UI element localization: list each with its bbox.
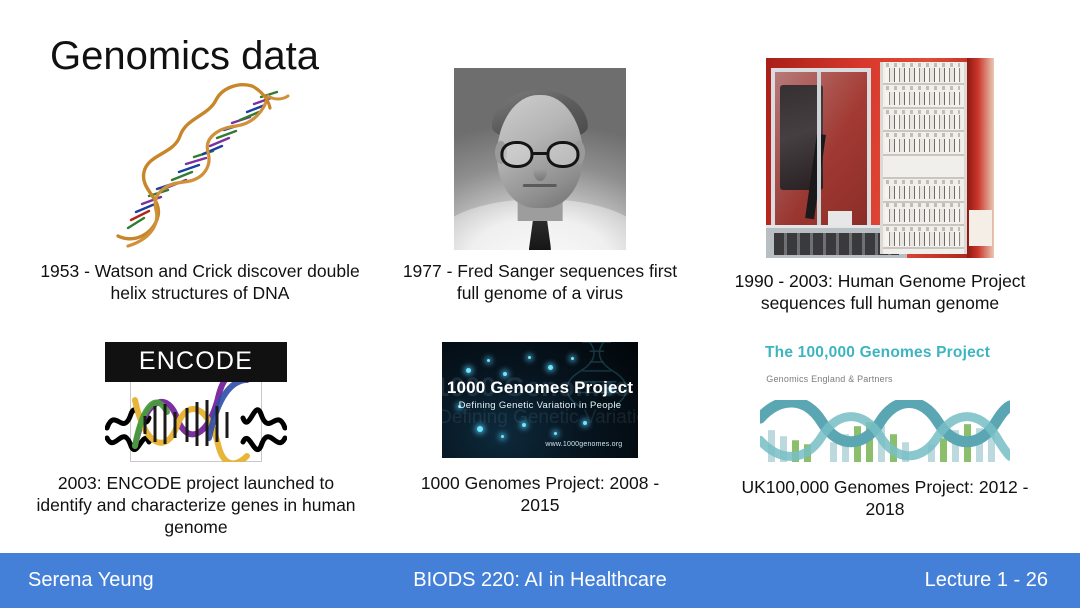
binder-row [885, 68, 961, 81]
glow-dot [487, 359, 490, 362]
binder-row [885, 92, 961, 105]
shelf-label-strip [886, 227, 960, 231]
1000-genomes-project-banner: 1000 Genomes Project Defining Genetic Va… [442, 342, 638, 458]
portrait-nose [533, 159, 547, 181]
eyeglass-bridge [533, 152, 547, 155]
encode-wordmark: ENCODE [139, 349, 253, 374]
lab-photo [766, 58, 994, 258]
portrait-mouth [523, 184, 557, 187]
caption-text: 1953 - Watson and Crick discover double … [40, 260, 360, 304]
binder-row [885, 186, 961, 199]
shelf-row [883, 203, 964, 226]
human-genome-project-lab-photo [766, 58, 994, 258]
content-item-human-genome-project: 1990 - 2003: Human Genome Project sequen… [720, 58, 1040, 314]
shelf-label-strip [886, 110, 960, 114]
dna-helix-icon [100, 68, 300, 248]
glow-dot [501, 435, 504, 438]
genomes-banner-graphic: 1000 Genomes Project Defining Genetic Va… [442, 342, 638, 458]
content-item-dna-double-helix: 1953 - Watson and Crick discover double … [40, 68, 360, 304]
shelf-row [883, 132, 964, 155]
footer-course-title: BIODS 220: AI in Healthcare [0, 569, 1080, 592]
fred-sanger-portrait-photo [454, 68, 626, 250]
content-item-encode: ENCODE 2003: ENCODE project launched to … [28, 342, 364, 538]
glass-enclosure [771, 68, 871, 240]
content-item-1000-genomes: 1000 Genomes Project Defining Genetic Va… [400, 342, 680, 516]
banner-subtitle: Defining Genetic Variation in People [442, 400, 638, 411]
encode-project-logo: ENCODE [105, 342, 287, 462]
binder-row [885, 209, 961, 222]
caption-text: 2003: ENCODE project launched to identif… [28, 472, 364, 538]
content-item-uk-100k-genomes: The 100,000 Genomes Project Genomics Eng… [730, 342, 1040, 520]
lab-paper-stack [969, 210, 992, 246]
slide-canvas: Genomics data [0, 0, 1080, 608]
binder-row [885, 139, 961, 152]
shelf-label-strip [886, 133, 960, 137]
glow-dot [528, 356, 531, 359]
shelf-label-strip [886, 63, 960, 67]
banner-url: www.1000genomes.org [545, 441, 622, 448]
shelf-row [883, 226, 964, 249]
caption-text: 1977 - Fred Sanger sequences first full … [400, 260, 680, 304]
eyeglass-lens-left [500, 141, 533, 168]
uk-100000-genomes-project-logo: The 100,000 Genomes Project Genomics Eng… [760, 342, 1010, 462]
glow-dot [571, 357, 574, 360]
caption-text: 1000 Genomes Project: 2008 - 2015 [400, 472, 680, 516]
shelf-row [883, 62, 964, 85]
binder-shelving-unit [880, 62, 967, 254]
caption-text: 1990 - 2003: Human Genome Project sequen… [720, 270, 1040, 314]
glass-divider [817, 72, 821, 236]
slide-footer-bar: Serena Yeung BIODS 220: AI in Healthcare… [0, 553, 1080, 608]
glow-dot [554, 432, 557, 435]
eyeglass-lens-right [546, 141, 579, 168]
shelf-row [883, 179, 964, 202]
uk100k-logo-title: The 100,000 Genomes Project [765, 344, 990, 362]
uk100k-helix-wave-icon [760, 400, 1010, 462]
caption-text: UK100,000 Genomes Project: 2012 - 2018 [730, 476, 1040, 520]
sample-tray [828, 211, 852, 226]
shelf-label-strip [886, 86, 960, 90]
binder-row [885, 232, 961, 245]
encode-wordmark-band: ENCODE [105, 342, 287, 382]
shelf-row [883, 109, 964, 132]
dna-double-helix-illustration [100, 68, 300, 248]
shelf-label-strip [886, 203, 960, 207]
content-item-fred-sanger: 1977 - Fred Sanger sequences first full … [400, 68, 680, 304]
portrait-photo-bw [454, 68, 626, 250]
encode-logo-graphic: ENCODE [105, 342, 287, 462]
shelf-label-strip [886, 180, 960, 184]
footer-lecture-slide-number: Lecture 1 - 26 [925, 569, 1048, 592]
uk100k-logo-subtitle: Genomics England & Partners [766, 374, 892, 384]
glow-dot [548, 365, 553, 370]
binder-row [885, 115, 961, 128]
shelf-row-empty [883, 156, 964, 179]
shelf-row [883, 85, 964, 108]
banner-title: 1000 Genomes Project [442, 378, 638, 398]
uk100k-logo-graphic: The 100,000 Genomes Project Genomics Eng… [760, 342, 1010, 462]
